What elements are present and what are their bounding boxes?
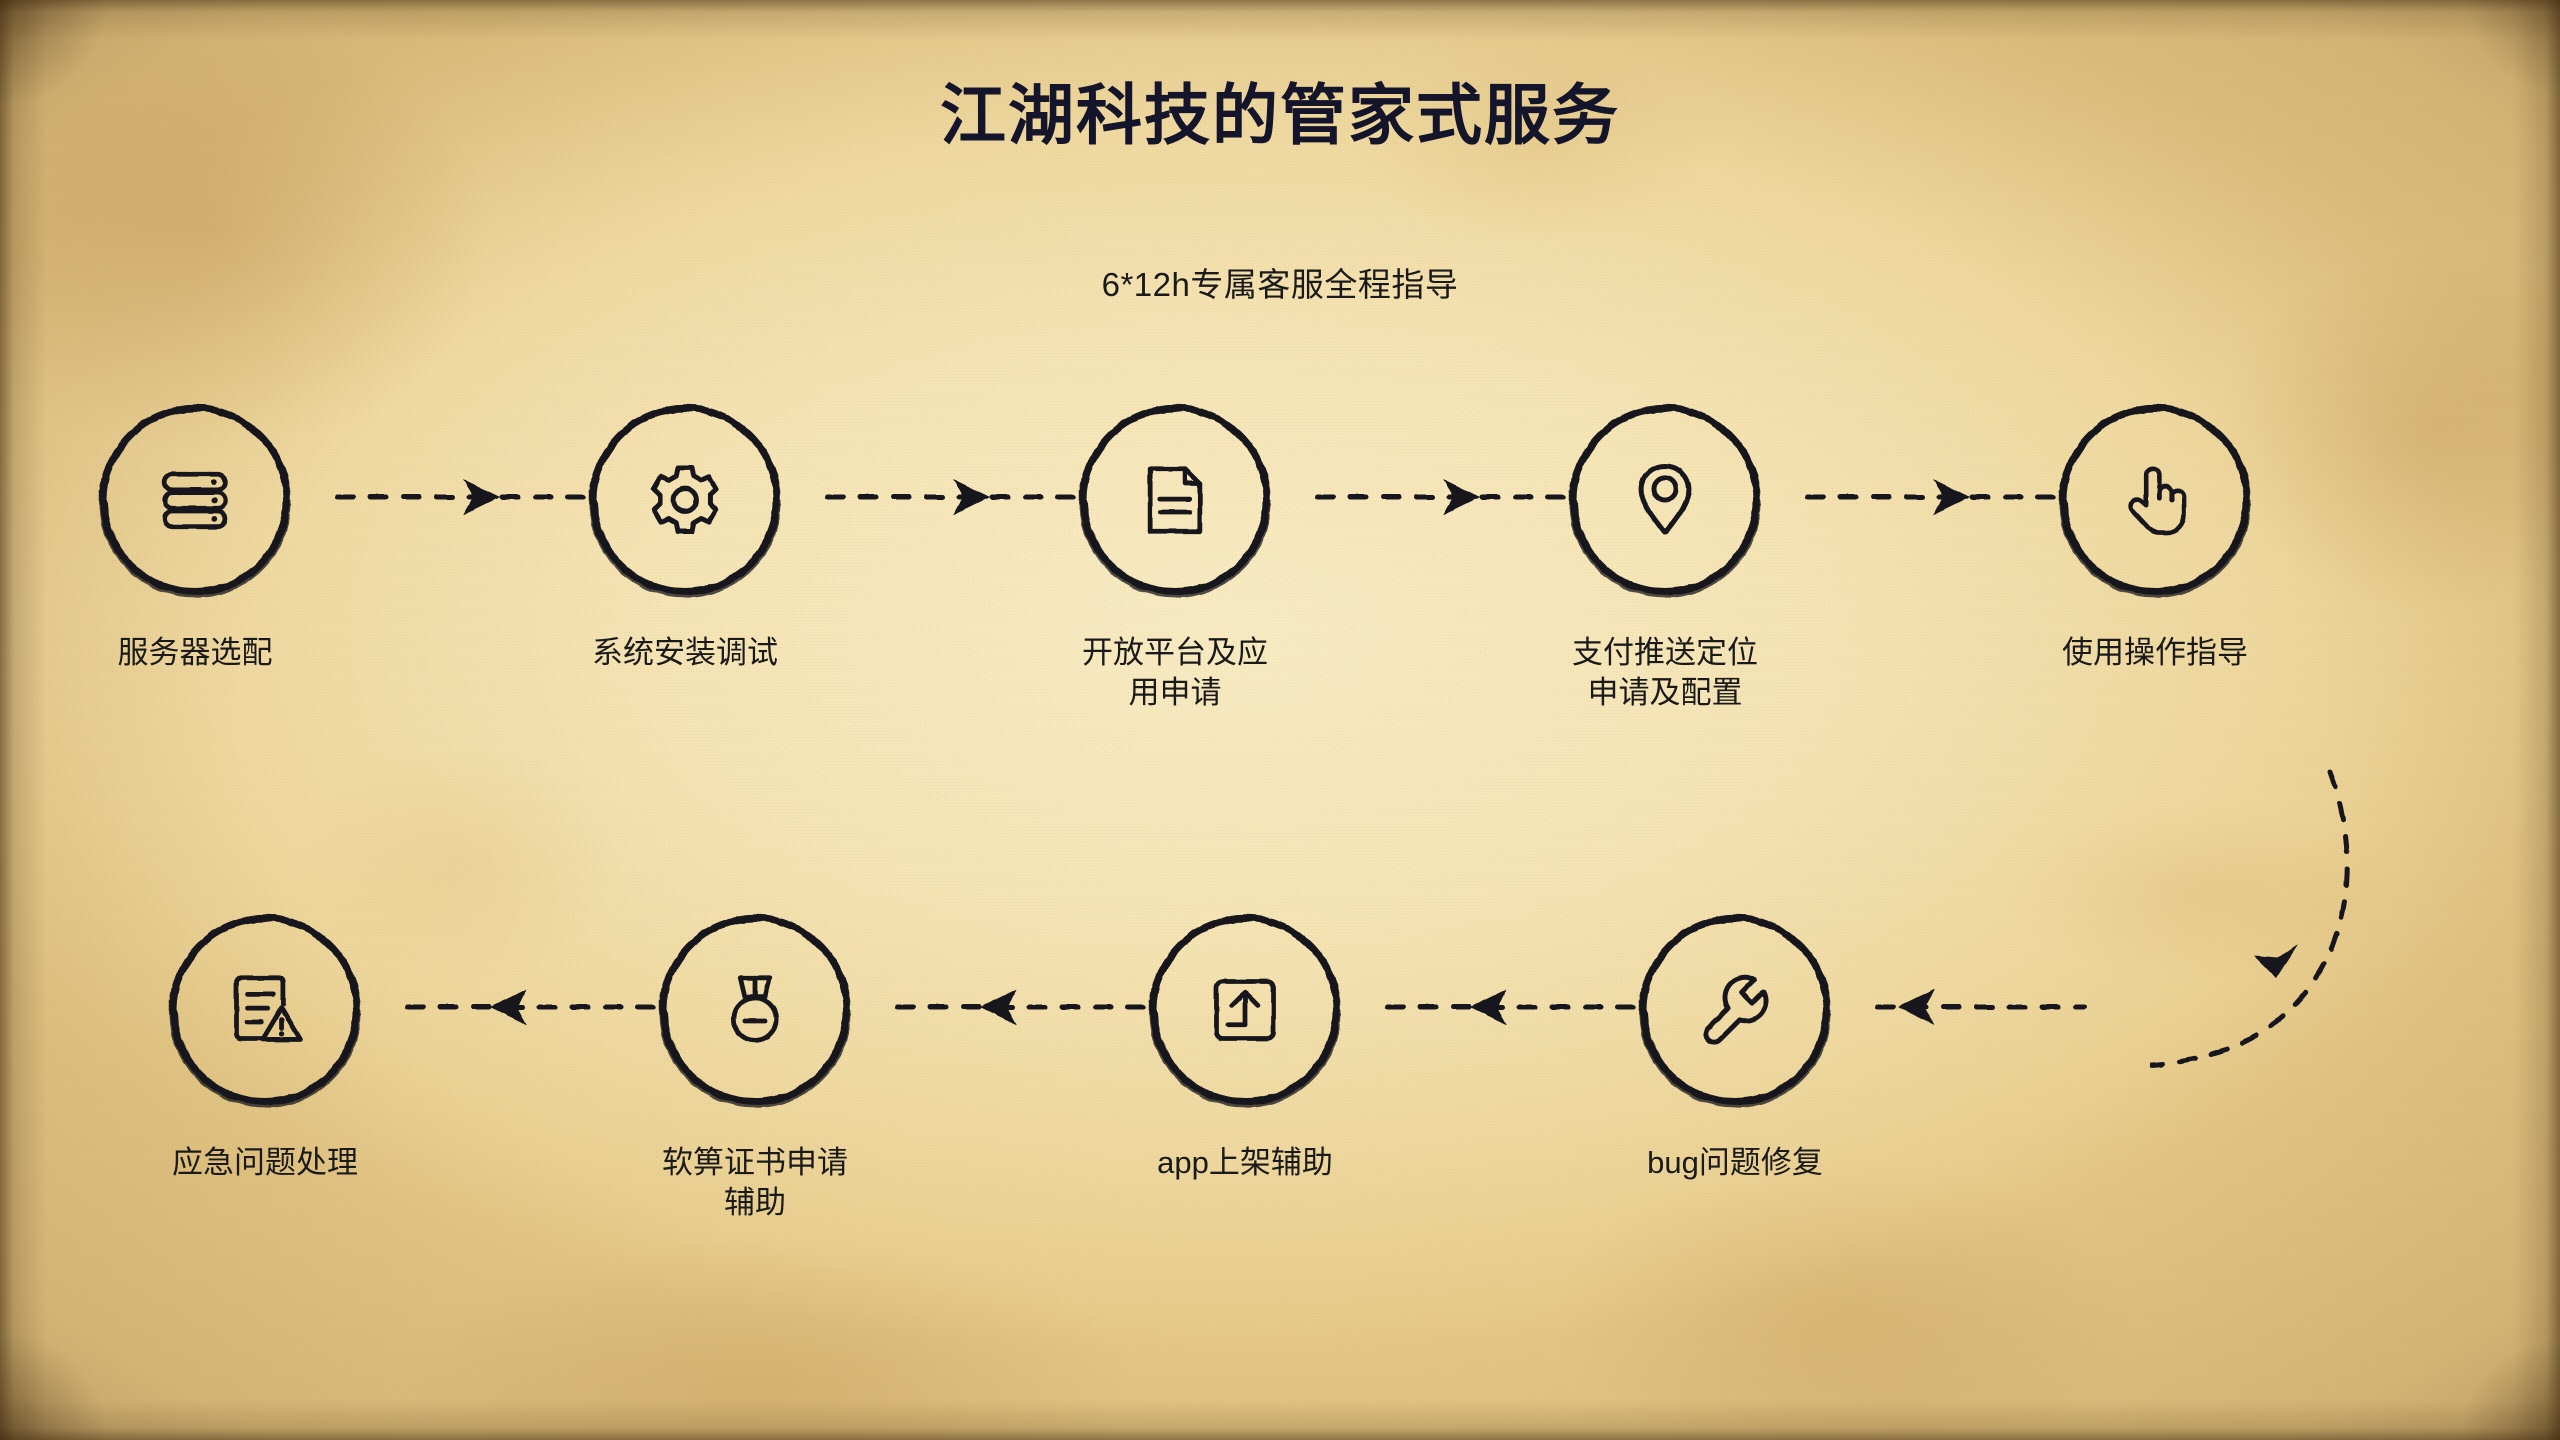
flow-node-map-pin[interactable]: 支付推送定位 申请及配置 — [1535, 395, 1795, 712]
flow-node-label: bug问题修复 — [1605, 1143, 1865, 1183]
icon-circle — [160, 905, 370, 1115]
flow-node-label: 支付推送定位 申请及配置 — [1535, 633, 1795, 712]
icon-circle — [650, 905, 860, 1115]
flow-node-label: 软箅证书申请 辅助 — [625, 1143, 885, 1222]
map-pin-icon — [1619, 454, 1711, 546]
infographic-canvas: 江湖科技的管家式服务 6*12h专属客服全程指导 服务器选配 系统 — [0, 0, 2560, 1440]
upload-box-icon — [1199, 964, 1291, 1056]
flow-node-label: 服务器选配 — [65, 633, 325, 673]
icon-circle — [1560, 395, 1770, 605]
flow-node-document-warning[interactable]: 应急问题处理 — [135, 905, 395, 1183]
flow-node-medal[interactable]: 软箅证书申请 辅助 — [625, 905, 885, 1222]
document-warning-icon — [219, 964, 311, 1056]
flow-node-upload[interactable]: app上架辅助 — [1115, 905, 1375, 1183]
connector-arrow-5 — [1865, 977, 2135, 1037]
medal-icon — [709, 964, 801, 1056]
flow-node-label: app上架辅助 — [1115, 1143, 1375, 1183]
flow-node-label: 使用操作指导 — [2025, 633, 2285, 673]
page-title: 江湖科技的管家式服务 — [0, 62, 2560, 158]
flow-node-gear[interactable]: 系统安装调试 — [555, 395, 815, 673]
icon-circle — [1630, 905, 1840, 1115]
flow-node-label: 开放平台及应 用申请 — [1045, 633, 1305, 712]
server-icon — [149, 454, 241, 546]
document-icon — [1129, 454, 1221, 546]
flow-row-bottom: 应急问题处理 软箅证书申请 辅助 — [0, 905, 2560, 1335]
page-subtitle: 6*12h专属客服全程指导 — [0, 258, 2560, 306]
icon-circle — [1070, 395, 1280, 605]
wrench-icon — [1689, 964, 1781, 1056]
icon-circle — [1140, 905, 1350, 1115]
icon-circle — [2050, 395, 2260, 605]
flow-node-server[interactable]: 服务器选配 — [65, 395, 325, 673]
flow-node-pointing-hand[interactable]: 使用操作指导 — [2025, 395, 2285, 673]
icon-circle — [580, 395, 790, 605]
gear-icon — [639, 454, 731, 546]
flow-node-document[interactable]: 开放平台及应 用申请 — [1045, 395, 1305, 712]
flow-node-label: 系统安装调试 — [555, 633, 815, 673]
icon-circle — [90, 395, 300, 605]
flow-node-label: 应急问题处理 — [135, 1143, 395, 1183]
flow-node-wrench[interactable]: bug问题修复 — [1605, 905, 1865, 1183]
pointing-hand-icon — [2111, 456, 2199, 544]
